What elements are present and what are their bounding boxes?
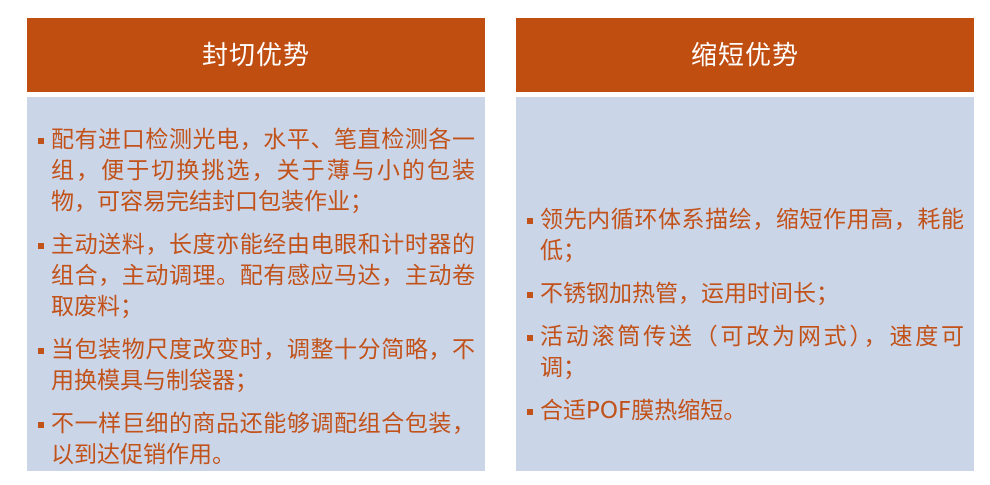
list-item: 主动送料，长度亦能经由电眼和计时器的组合，主动调理。配有感应马达，主动卷取废料； (37, 230, 475, 323)
panel-body-sealing: 配有进口检测光电，水平、笔直检测各一组，便于切换挑选，关于薄与小的包装物，可容易… (27, 97, 485, 471)
list-item: 领先内循环体系描绘，缩短作用高，耗能低； (526, 205, 964, 267)
square-bullet-icon (38, 348, 44, 354)
list-item: 当包装物尺度改变时，调整十分简略，不用换模具与制袋器； (37, 335, 475, 397)
bullet-text: 配有进口检测光电，水平、笔直检测各一组，便于切换挑选，关于薄与小的包装物，可容易… (51, 125, 475, 218)
bullet-list-sealing: 配有进口检测光电，水平、笔直检测各一组，便于切换挑选，关于薄与小的包装物，可容易… (37, 125, 475, 471)
square-bullet-icon (38, 243, 44, 249)
square-bullet-icon (38, 138, 44, 144)
list-item: 活动滚筒传送（可改为网式），速度可调； (526, 322, 964, 384)
square-bullet-icon (527, 292, 533, 298)
panel-body-shrink: 领先内循环体系描绘，缩短作用高，耗能低； 不锈钢加热管，运用时间长； 活动滚筒传… (516, 97, 974, 471)
list-item: 配有进口检测光电，水平、笔直检测各一组，便于切换挑选，关于薄与小的包装物，可容易… (37, 125, 475, 218)
panel-title-sealing: 封切优势 (202, 40, 310, 70)
square-bullet-icon (527, 335, 533, 341)
list-item: 不一样巨细的商品还能够调配组合包装，以到达促销作用。 (37, 409, 475, 471)
bullet-text: 活动滚筒传送（可改为网式），速度可调； (540, 322, 964, 384)
bullet-text: 不锈钢加热管，运用时间长； (540, 279, 964, 310)
panel-title-shrink: 缩短优势 (691, 40, 799, 70)
bullet-text: 当包装物尺度改变时，调整十分简略，不用换模具与制袋器； (51, 335, 475, 397)
bullet-list-shrink: 领先内循环体系描绘，缩短作用高，耗能低； 不锈钢加热管，运用时间长； 活动滚筒传… (526, 205, 964, 427)
slide-canvas: 封切优势 配有进口检测光电，水平、笔直检测各一组，便于切换挑选，关于薄与小的包装… (0, 0, 990, 485)
list-item: 合适POF膜热缩短。 (526, 396, 964, 427)
panel-header-shrink: 缩短优势 (516, 18, 974, 92)
square-bullet-icon (527, 409, 533, 415)
bullet-text: 主动送料，长度亦能经由电眼和计时器的组合，主动调理。配有感应马达，主动卷取废料； (51, 230, 475, 323)
bullet-text: 领先内循环体系描绘，缩短作用高，耗能低； (540, 205, 964, 267)
list-item: 不锈钢加热管，运用时间长； (526, 279, 964, 310)
panel-shrink-advantages: 缩短优势 领先内循环体系描绘，缩短作用高，耗能低； 不锈钢加热管，运用时间长； … (516, 18, 974, 471)
panel-sealing-advantages: 封切优势 配有进口检测光电，水平、笔直检测各一组，便于切换挑选，关于薄与小的包装… (27, 18, 485, 471)
square-bullet-icon (38, 422, 44, 428)
panel-header-sealing: 封切优势 (27, 18, 485, 92)
bullet-text: 不一样巨细的商品还能够调配组合包装，以到达促销作用。 (51, 409, 475, 471)
square-bullet-icon (527, 218, 533, 224)
bullet-text: 合适POF膜热缩短。 (540, 396, 964, 427)
